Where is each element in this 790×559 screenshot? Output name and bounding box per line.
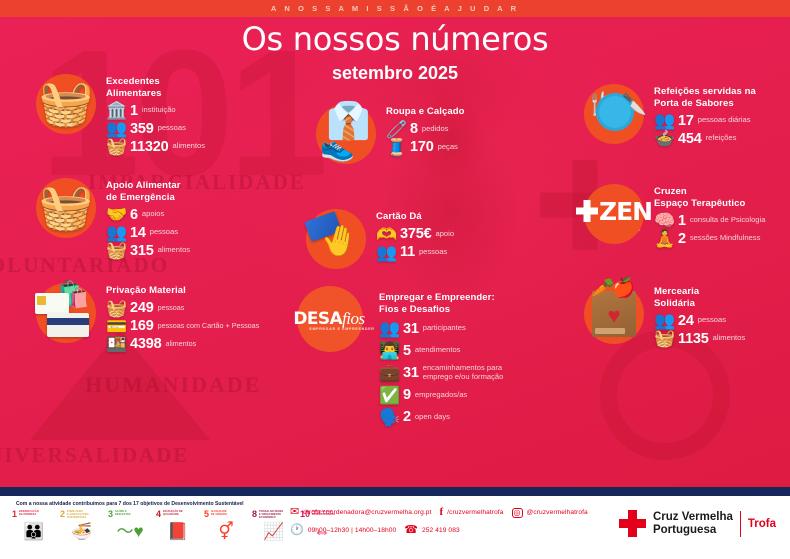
zen-logo-text: ZEN: [599, 197, 652, 226]
sdg-label: SAÚDE E BEM-ESTAR: [115, 510, 131, 517]
stat-row: 👥 14 pessoas: [106, 224, 190, 241]
infographic-page: 101 IMPARCIALIDADE VOLUNTARIADO HUMANIDA…: [0, 0, 790, 559]
plate-cutlery-icon: 🍴 🔪: [578, 78, 650, 150]
mission-text: A N O S S A M I S S Ã O É A J U D A R: [0, 0, 790, 17]
phone-text: 252 419 083: [422, 527, 460, 534]
stat-value: 375€: [400, 226, 431, 242]
stat-row: 🗣️ 2 open days: [379, 409, 503, 426]
watermark-universalidade: UNIVERSALIDADE: [0, 443, 189, 468]
shirt-shoes-icon: 👔 👟: [310, 98, 382, 170]
stat-row: 🧠 1 consulta de Psicologia: [654, 212, 765, 229]
food-crate-icon: 🧺: [106, 242, 126, 259]
stat-value: 6: [130, 207, 138, 223]
hand-card-icon: 🤚: [300, 203, 372, 275]
food-crate-icon: 🧺: [106, 300, 126, 317]
stat-row: 🧵 170 peças: [386, 139, 465, 156]
stat-block-cruzen-espaco-terapeutico: ZEN ESPAÇO TERAPÊUTICO Cruzen Espaço Ter…: [578, 178, 765, 250]
sdg-note: Com a nossa atividade contribuímos para …: [16, 501, 244, 507]
grocery-bag-heart-icon: 🥕🍎 ♥: [578, 278, 650, 350]
people-icon: 👥: [106, 224, 126, 241]
instagram-contact[interactable]: ◎ @cruzvermelhatrofa: [512, 508, 588, 518]
opening-hours: 🕐 09h00–12h30 | 14h00–18h00: [290, 525, 396, 536]
block-title: Excedentes Alimentares: [106, 76, 205, 99]
people-icon: 👥: [106, 120, 126, 137]
delegation-name: Trofa: [748, 518, 776, 530]
fabric-swatch-icon: 🧵: [386, 139, 406, 156]
stat-block-cartao-da: 🤚 Cartão Dá 🫶 375€ apoio 👥 11 pessoas: [300, 203, 454, 275]
red-cross-icon: [619, 510, 646, 537]
block-title: Roupa e Calçado: [386, 106, 465, 118]
stat-value: 8: [410, 121, 418, 137]
sdg-number: 4: [156, 510, 161, 519]
sdg-number: 8: [252, 510, 257, 519]
stat-label: consulta de Psicologia: [690, 216, 766, 225]
red-cross-icon: [576, 200, 598, 222]
stat-block-mercearia-solidaria: 🥕🍎 ♥ Mercearia Solidária 👥 24 pessoas 🧺 …: [578, 278, 745, 350]
logo-divider: [740, 511, 741, 537]
stat-label: alimentos: [158, 246, 191, 255]
block-title: Apoio Alimentar de Emergência: [106, 180, 190, 203]
stat-value: 2: [403, 409, 411, 425]
stat-value: 169: [130, 318, 154, 334]
footer: Com a nossa atividade contribuímos para …: [0, 496, 790, 559]
footer-divider: [0, 487, 790, 496]
block-title: Mercearia Solidária: [654, 286, 745, 309]
stat-label: peças: [438, 143, 458, 152]
stat-block-roupa-e-calcado: 👔 👟 Roupa e Calçado 🧷 8 pedidos 🧵 170 pe…: [310, 98, 465, 170]
stat-value: 2: [678, 231, 686, 247]
stat-value: 31: [403, 321, 419, 337]
heartbeat-icon: 〜♥: [108, 523, 152, 540]
stat-label: pedidos: [422, 125, 449, 134]
brain-care-icon: 🧠: [654, 212, 674, 229]
envelope-icon: ✉: [290, 507, 299, 518]
stat-row: 🫶 375€ apoio: [376, 226, 454, 243]
assorted-food-icon: 🍱: [106, 336, 126, 353]
stat-value: 24: [678, 313, 694, 329]
stat-label: pessoas diárias: [698, 116, 751, 125]
facebook-contact[interactable]: f /cruzvermelhatrofa: [439, 507, 503, 518]
stat-row: 🧺 11320 alimentos: [106, 138, 205, 155]
stat-row: 🧷 8 pedidos: [386, 121, 465, 138]
stat-row: 🧺 249 pessoas: [106, 300, 259, 317]
people-group-icon: 👪: [12, 523, 56, 540]
email-text: dtrofa.coordenadora@cruzvermelha.org.pt: [303, 509, 431, 516]
watermark-humanidade: HUMANIDADE: [85, 372, 261, 398]
people-icon: 👥: [376, 244, 396, 261]
hours-text: 09h00–12h30 | 14h00–18h00: [308, 527, 397, 534]
stat-row: 🧺 1135 alimentos: [654, 330, 745, 347]
stat-block-empregar-e-empreender: DESAfios EMPREGAR E EMPREENDER Empregar …: [283, 290, 503, 426]
stat-label: apoios: [142, 210, 164, 219]
stat-label: alimentos: [713, 334, 746, 343]
sdg-goal-1: 1 ERRADICAÇÃO DA POBREZA 👪: [12, 510, 56, 550]
desafios-logo: DESAfios EMPREGAR E EMPREENDER: [283, 290, 375, 350]
stat-row: 👥 11 pessoas: [376, 244, 454, 261]
sdg-number: 2: [60, 510, 65, 519]
sdg-goal-4: 4 EDUCAÇÃO DE QUALIDADE 📕: [156, 510, 200, 550]
sdg-label: FOME ZERO E AGRICULTURA SUSTENTÁVEL: [67, 510, 89, 520]
stat-row: 👨‍💻 5 atendimentos: [379, 342, 503, 359]
block-title: Empregar e Empreender: Fios e Desafios: [379, 292, 503, 315]
contact-block: ✉ dtrofa.coordenadora@cruzvermelha.org.p…: [290, 507, 588, 543]
stat-value: 454: [678, 131, 702, 147]
block-title: Privação Material: [106, 285, 259, 297]
stat-block-excedentes-alimentares: 🧺 Excedentes Alimentares 🏛️ 1 instituiçã…: [30, 68, 205, 155]
instagram-text: @cruzvermelhatrofa: [527, 509, 588, 516]
meditation-icon: 🧘: [654, 230, 674, 247]
stat-label: pessoas: [158, 124, 186, 133]
sdg-goal-5: 5 IGUALDADE DE GÉNERO ⚥: [204, 510, 248, 550]
cards-groceries-icon: 🛍️: [30, 277, 102, 349]
stat-value: 359: [130, 121, 154, 137]
sdg-number: 3: [108, 510, 113, 519]
stat-row: 🍲 454 refeições: [654, 130, 756, 147]
stat-row: ✅ 9 empregados/as: [379, 387, 503, 404]
desafios-logo-bold: DESA: [293, 309, 342, 329]
sdg-number: 1: [12, 510, 17, 519]
stat-row: 🤝 6 apoios: [106, 206, 190, 223]
contact-row-2: 🕐 09h00–12h30 | 14h00–18h00 ☎ 252 419 08…: [290, 525, 588, 536]
organisation-name: Cruz Vermelha Portuguesa: [653, 511, 733, 536]
stat-label: pessoas: [419, 248, 447, 257]
stat-value: 1: [130, 103, 138, 119]
food-crate-icon: 🧺: [106, 138, 126, 155]
stat-row: 🏛️ 1 instituição: [106, 102, 205, 119]
stat-label: apoio: [435, 230, 454, 239]
stat-value: 5: [403, 343, 411, 359]
sdg-goal-3: 3 SAÚDE E BEM-ESTAR 〜♥: [108, 510, 152, 550]
steaming-bowl-icon: 🍜: [60, 523, 104, 540]
sdg-label: ERRADICAÇÃO DA POBREZA: [19, 510, 39, 517]
food-crate-icon: 🧺: [654, 330, 674, 347]
people-icon: 👥: [654, 312, 674, 329]
stat-row: 👥 24 pessoas: [654, 312, 745, 329]
block-title: Cartão Dá: [376, 211, 454, 223]
stat-row: 💼 31 encaminhamentos para emprego e/ou f…: [379, 364, 503, 381]
page-title: Os nossos números: [0, 20, 790, 58]
stat-row: 💳 169 pessoas com Cartão + Pessoas: [106, 318, 259, 335]
stat-label: participantes: [423, 324, 466, 333]
heart-hand-icon: 🫶: [376, 226, 396, 243]
stat-label: refeições: [706, 134, 737, 143]
payment-card-icon: 💳: [106, 318, 126, 335]
stat-label: alimentos: [165, 340, 196, 348]
sdg-label: IGUALDADE DE GÉNERO: [211, 510, 227, 517]
instagram-icon: ◎: [512, 508, 523, 518]
stat-row: 🍱 4398 alimentos: [106, 336, 259, 353]
stat-label: sessões Mindfulness: [690, 234, 761, 243]
stat-value: 315: [130, 243, 154, 259]
stat-label: encaminhamentos para emprego e/ou formaç…: [423, 364, 504, 381]
stat-label: instituição: [142, 106, 176, 115]
helping-hands-icon: 🤝: [106, 206, 126, 223]
hanger-icon: 🧷: [386, 121, 406, 138]
stat-block-refeicoes-porta-de-sabores: 🍴 🔪 Refeições servidas na Porta de Sabor…: [578, 78, 756, 150]
food-basket-icon: 🧺: [30, 68, 102, 140]
stat-label: empregados/as: [415, 391, 467, 400]
gender-equality-icon: ⚥: [204, 523, 248, 540]
stat-label: atendimentos: [415, 346, 461, 355]
clock-icon: 🕐: [290, 525, 304, 536]
facebook-icon: f: [439, 507, 443, 518]
stat-row: 🧘 2 sessões Mindfulness: [654, 230, 765, 247]
cruz-vermelha-logo: Cruz Vermelha Portuguesa Trofa: [619, 510, 776, 537]
stat-value: 249: [130, 300, 154, 316]
block-title: Refeições servidas na Porta de Sabores: [654, 86, 756, 109]
sdg-goal-2: 2 FOME ZERO E AGRICULTURA SUSTENTÁVEL 🍜: [60, 510, 104, 550]
stat-label: alimentos: [173, 142, 206, 151]
telephone-icon: ☎: [404, 525, 418, 536]
institution-icon: 🏛️: [106, 102, 126, 119]
soup-bowl-icon: 🍲: [654, 130, 674, 147]
emergency-food-basket-icon: 🧺: [30, 172, 102, 244]
stat-value: 1: [678, 213, 686, 229]
stat-row: 👥 31 participantes: [379, 320, 503, 337]
stat-value: 31: [403, 365, 419, 381]
email-contact[interactable]: ✉ dtrofa.coordenadora@cruzvermelha.org.p…: [290, 507, 431, 518]
stat-row: 🧺 315 alimentos: [106, 242, 190, 259]
stat-value: 170: [410, 139, 434, 155]
zen-logo: ZEN ESPAÇO TERAPÊUTICO: [578, 178, 650, 250]
desk-worker-icon: 👨‍💻: [379, 342, 399, 359]
contact-row-1: ✉ dtrofa.coordenadora@cruzvermelha.org.p…: [290, 507, 588, 518]
phone-contact[interactable]: ☎ 252 419 083: [404, 525, 459, 536]
stat-label: pessoas com Cartão + Pessoas: [158, 322, 260, 330]
stat-value: 17: [678, 113, 694, 129]
stat-value: 9: [403, 387, 411, 403]
stat-row: 👥 17 pessoas diárias: [654, 112, 756, 129]
stat-value: 4398: [130, 336, 161, 352]
briefcase-arrow-icon: 💼: [379, 364, 399, 381]
open-day-icon: 🗣️: [379, 409, 399, 426]
stat-label: open days: [415, 413, 450, 422]
stat-value: 11: [400, 244, 415, 260]
open-book-icon: 📕: [156, 523, 200, 540]
stat-block-privacao-material: 🛍️ Privação Material 🧺 249 pessoas 💳 169…: [30, 277, 259, 353]
stat-block-apoio-alimentar-emergencia: 🧺 Apoio Alimentar de Emergência 🤝 6 apoi…: [30, 172, 190, 259]
sdg-label: TRABALHO DIGNO E CRESCIMENTO ECONÓMICO: [259, 510, 283, 520]
stat-row: 👥 359 pessoas: [106, 120, 205, 137]
participants-icon: 👥: [379, 320, 399, 337]
stat-value: 11320: [130, 139, 169, 155]
sdg-number: 5: [204, 510, 209, 519]
stat-label: pessoas: [698, 316, 726, 325]
facebook-text: /cruzvermelhatrofa: [447, 509, 503, 516]
stat-label: pessoas: [150, 228, 178, 237]
check-circle-icon: ✅: [379, 387, 399, 404]
sdg-label: EDUCAÇÃO DE QUALIDADE: [163, 510, 183, 517]
stat-value: 1135: [678, 331, 709, 347]
desafios-logo-script: fios: [342, 309, 365, 328]
stat-label: pessoas: [158, 304, 185, 312]
mission-bar: A N O S S A M I S S Ã O É A J U D A R: [0, 0, 790, 17]
stat-value: 14: [130, 225, 146, 241]
block-title: Cruzen Espaço Terapêutico: [654, 186, 765, 209]
people-icon: 👥: [654, 112, 674, 129]
